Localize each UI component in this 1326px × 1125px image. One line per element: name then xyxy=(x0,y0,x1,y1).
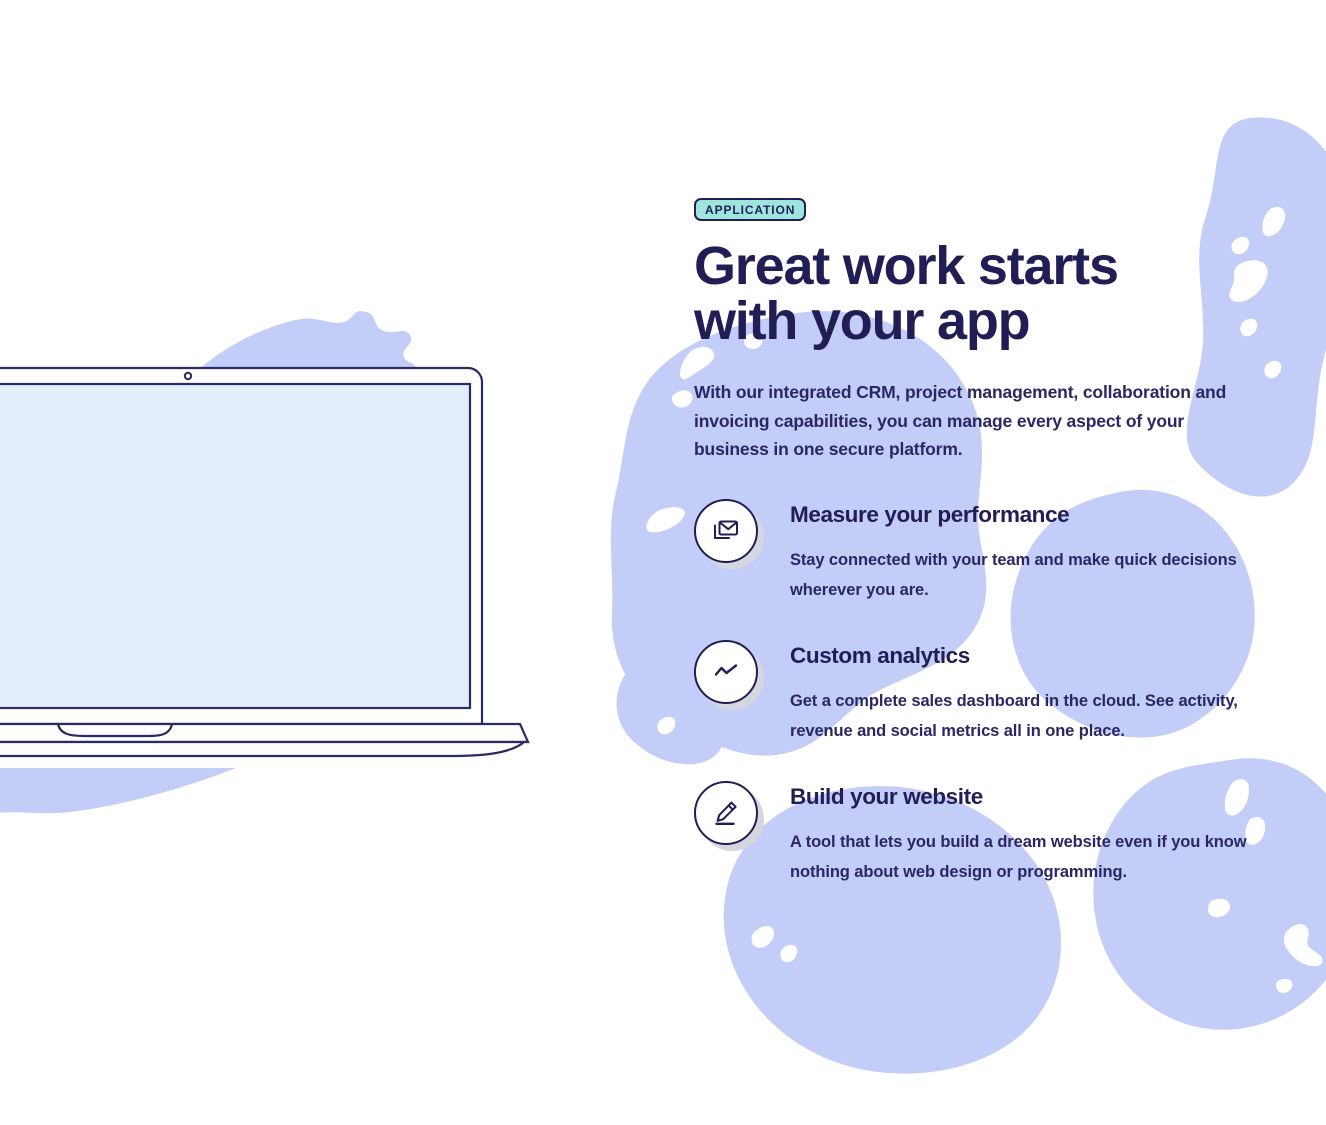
page-root: APPLICATION Great work starts with your … xyxy=(0,0,1326,1125)
feature-title: Custom analytics xyxy=(790,644,1250,669)
feature-body: Measure your performance Stay connected … xyxy=(790,497,1250,605)
feature-item-custom-analytics[interactable]: Custom analytics Get a complete sales da… xyxy=(694,638,1260,746)
feature-list: Measure your performance Stay connected … xyxy=(694,497,1260,886)
feature-icon-wrap xyxy=(694,781,764,851)
feature-icon-wrap xyxy=(694,640,764,710)
laptop-outline-illustration xyxy=(0,352,560,772)
blob-speckle-17 xyxy=(780,945,797,963)
blob-speckle-14 xyxy=(1284,924,1323,966)
feature-body: Custom analytics Get a complete sales da… xyxy=(790,638,1250,746)
laptop-base-lip xyxy=(0,742,524,756)
feature-item-build-website[interactable]: Build your website A tool that lets you … xyxy=(694,779,1260,887)
pencil-edit-icon xyxy=(694,781,758,845)
feature-description: Stay connected with your team and make q… xyxy=(790,545,1250,605)
laptop-webcam-icon xyxy=(185,373,191,379)
feature-description: Get a complete sales dashboard in the cl… xyxy=(790,686,1250,746)
analytics-wave-icon xyxy=(694,640,758,704)
feature-description: A tool that lets you build a dream websi… xyxy=(790,827,1250,887)
blob-speckle-18 xyxy=(748,1039,765,1057)
application-badge: APPLICATION xyxy=(694,198,806,221)
laptop-base xyxy=(0,724,528,742)
mail-stack-icon xyxy=(694,499,758,563)
page-title: Great work starts with your app xyxy=(694,239,1214,349)
blob-speckle-13 xyxy=(1208,899,1230,917)
blob-speckle-2 xyxy=(672,390,692,407)
blob-speckle-10 xyxy=(1264,361,1281,379)
feature-section: APPLICATION Great work starts with your … xyxy=(694,198,1260,887)
blob-speckle-4 xyxy=(646,507,684,532)
laptop-screen xyxy=(0,384,470,708)
feature-item-measure-performance[interactable]: Measure your performance Stay connected … xyxy=(694,497,1260,605)
feature-body: Build your website A tool that lets you … xyxy=(790,779,1250,887)
feature-title: Build your website xyxy=(790,785,1250,810)
blob-speckle-6 xyxy=(1262,207,1285,236)
blob-speckle-5 xyxy=(657,717,675,735)
feature-title: Measure your performance xyxy=(790,503,1250,528)
blob-speckle-16 xyxy=(752,926,775,948)
section-subhead: With our integrated CRM, project managem… xyxy=(694,378,1242,463)
feature-icon-wrap xyxy=(694,499,764,569)
blob-laptop-bottom xyxy=(0,768,236,817)
blob-speckle-15 xyxy=(1276,979,1292,993)
